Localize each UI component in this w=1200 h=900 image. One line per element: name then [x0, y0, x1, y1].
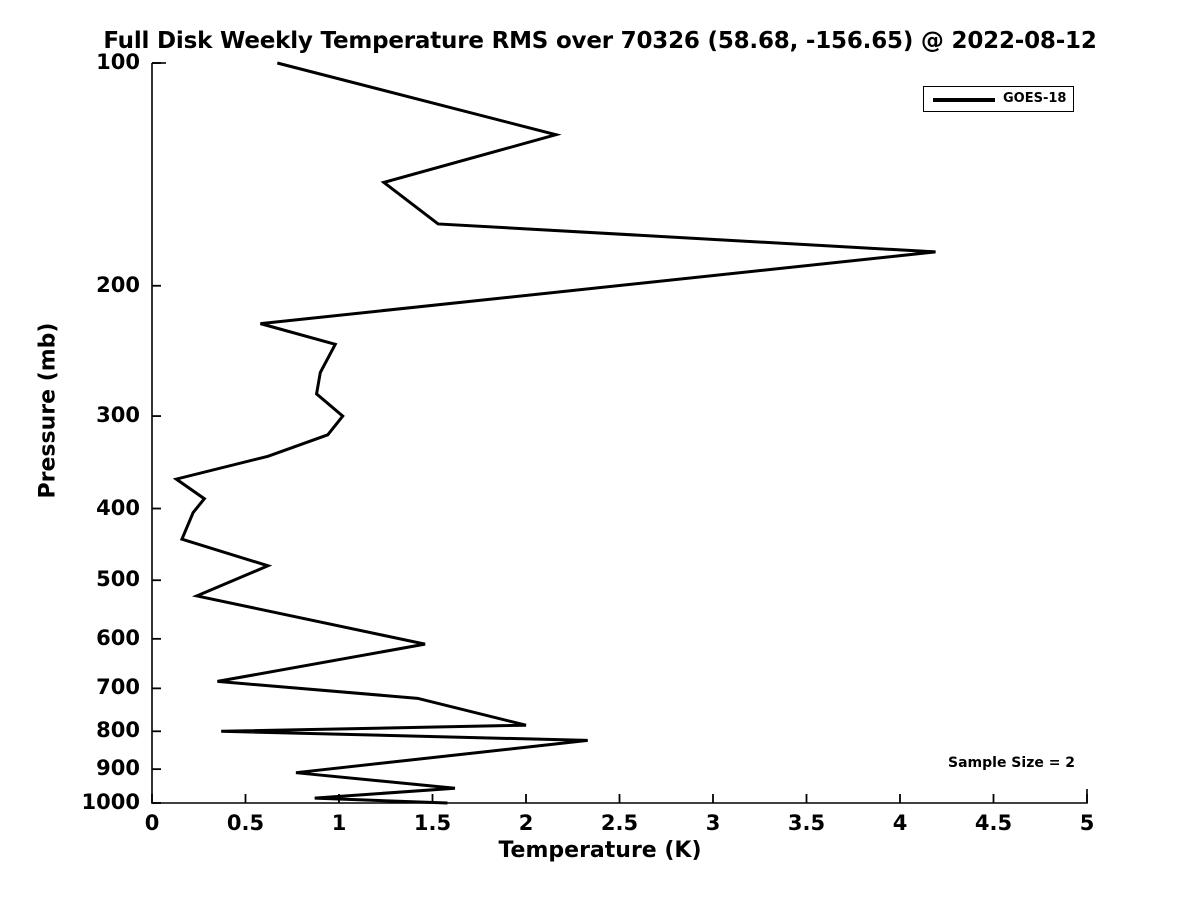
sample-size-annotation: Sample Size = 2: [948, 755, 1075, 771]
x-tick-label: 1.5: [393, 811, 473, 835]
y-tick-label: 300: [30, 403, 140, 427]
chart-page: Full Disk Weekly Temperature RMS over 70…: [0, 0, 1200, 900]
x-tick-label: 4.5: [954, 811, 1034, 835]
x-tick-label: 5: [1047, 811, 1127, 835]
legend-label-goes-18: GOES-18: [1003, 91, 1066, 106]
y-tick-label: 200: [30, 273, 140, 297]
y-tick-label: 100: [30, 50, 140, 74]
series-line-goes-18: [176, 63, 935, 803]
y-tick-label: 500: [30, 567, 140, 591]
x-tick-label: 2: [486, 811, 566, 835]
x-tick-label: 0.5: [206, 811, 286, 835]
legend-line-swatch: [933, 98, 995, 102]
y-tick-label: 400: [30, 496, 140, 520]
y-tick-label: 600: [30, 626, 140, 650]
legend[interactable]: GOES-18: [923, 86, 1074, 112]
y-tick-label: 800: [30, 718, 140, 742]
x-tick-label: 2.5: [580, 811, 660, 835]
x-tick-label: 0: [112, 811, 192, 835]
x-tick-label: 1: [299, 811, 379, 835]
x-tick-label: 4: [860, 811, 940, 835]
x-tick-label: 3.5: [767, 811, 847, 835]
y-tick-label: 900: [30, 756, 140, 780]
y-tick-label: 700: [30, 675, 140, 699]
axis-frame: [152, 63, 1087, 803]
x-axis-label: Temperature (K): [0, 838, 1200, 863]
x-tick-label: 3: [673, 811, 753, 835]
